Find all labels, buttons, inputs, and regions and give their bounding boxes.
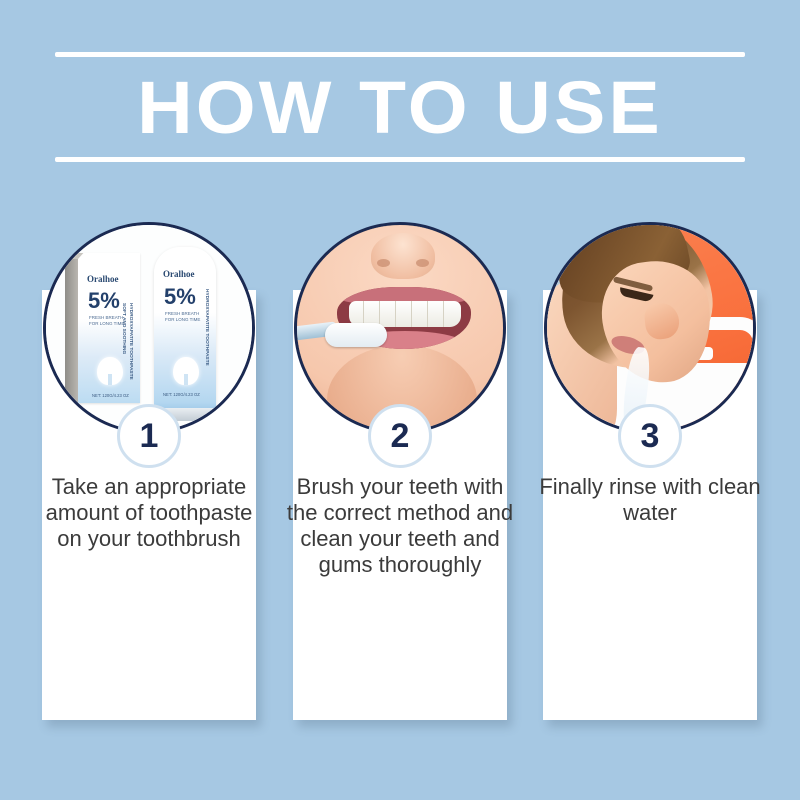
faucet-icon <box>707 317 756 378</box>
tube-side-text: HYDROXYAPATITE TOOTHPASTE <box>204 289 209 366</box>
carton-brand-label: Oralhoe <box>87 274 119 284</box>
tube-claim-line1: FRESH BREATH <box>165 311 199 317</box>
step-caption-1: Take an appropriate amount of toothpaste… <box>34 474 264 552</box>
brushing-teeth-photo <box>297 225 503 431</box>
carton-side-text: HYDROXYAPATITE TOOTHPASTE <box>128 303 133 380</box>
nostril-right <box>416 259 429 267</box>
carton-percent-label: 5% <box>88 288 120 314</box>
step-number-badge-3: 3 <box>618 404 682 468</box>
step-caption-3: Finally rinse with clean water <box>535 474 765 526</box>
carton-claim-line2: FOR LONG TIME <box>89 321 124 327</box>
step-number-badge-1: 1 <box>117 404 181 468</box>
nose-illustration <box>371 233 435 279</box>
step-number-badge-2: 2 <box>368 404 432 468</box>
nostril-left <box>377 259 390 267</box>
toothpaste-box-and-tube-photo: Oralhoe 5% FRESH BREATH FOR LONG TIME HY… <box>46 225 252 431</box>
carton-net-weight: NET: 120G/4.23 OZ <box>92 393 129 398</box>
tooth-icon <box>97 357 123 385</box>
carton-claim-line1: FRESH BREATH <box>89 315 123 321</box>
steps-container: Oralhoe 5% FRESH BREATH FOR LONG TIME HY… <box>0 0 800 800</box>
tube-claim-line2: FOR LONG TIME <box>165 317 200 323</box>
carton-side-text-2: SOFT AND SOOTHING <box>121 303 126 354</box>
step-3-photo-circle <box>544 222 756 434</box>
toothpaste-tube: Oralhoe 5% FRESH BREATH FOR LONG TIME HY… <box>154 247 216 412</box>
tube-percent-label: 5% <box>164 284 196 310</box>
toothpaste-carton: Oralhoe 5% FRESH BREATH FOR LONG TIME HY… <box>78 253 140 403</box>
step-2-photo-circle <box>294 222 506 434</box>
tube-tooth-icon <box>173 357 199 385</box>
step-caption-2: Brush your teeth with the correct method… <box>285 474 515 578</box>
rinsing-mouth-photo <box>547 225 753 431</box>
tube-net-weight: NET: 120G/4.23 OZ <box>163 392 200 397</box>
tube-brand-label: Oralhoe <box>163 269 195 279</box>
step-1-photo-circle: Oralhoe 5% FRESH BREATH FOR LONG TIME HY… <box>43 222 255 434</box>
toothbrush-head-icon <box>325 323 387 347</box>
